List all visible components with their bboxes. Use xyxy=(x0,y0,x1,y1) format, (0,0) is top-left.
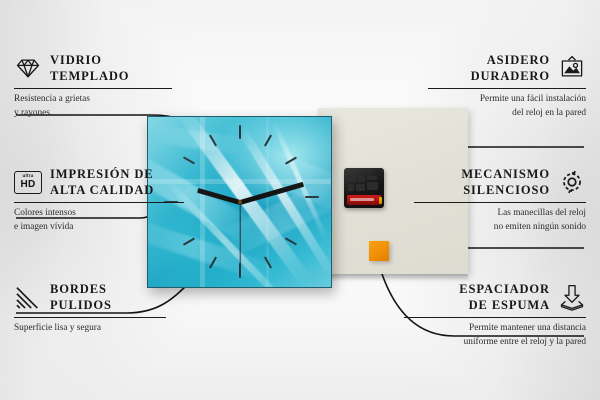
diamond-icon xyxy=(14,54,42,82)
mechanism-detail xyxy=(348,176,380,194)
feature-title: MECANISMO SILENCIOSO xyxy=(461,166,550,198)
arrow-down-stack-icon xyxy=(558,283,586,311)
divider xyxy=(428,88,586,89)
feature-description: Las manecillas del reloj no emiten ningú… xyxy=(414,207,586,233)
feature-title: VIDRIO TEMPLADO xyxy=(50,52,129,84)
feature-description: Colores intensos e imagen vívida xyxy=(14,207,184,233)
ultra-hd-icon: ultra HD xyxy=(14,171,42,194)
feature-asidero-duradero: ASIDERO DURADERO Permite una fácil insta… xyxy=(428,52,586,120)
divider xyxy=(14,317,166,318)
feature-description: Permite una fácil instalación del reloj … xyxy=(428,93,586,119)
clock-second-hand xyxy=(239,202,240,264)
divider xyxy=(14,88,172,89)
feature-espaciador-de-espuma: ESPACIADOR DE ESPUMA Permite mantener un… xyxy=(404,281,586,349)
clock-mechanism xyxy=(344,168,384,208)
feature-title: BORDES PULIDOS xyxy=(50,281,112,313)
feature-mecanismo-silencioso: MECANISMO SILENCIOSO Las manecillas del … xyxy=(414,166,586,234)
mechanism-hanger xyxy=(358,168,371,174)
feature-title: ASIDERO DURADERO xyxy=(471,52,550,84)
clock-center-pin xyxy=(238,200,242,204)
feature-description: Superficie lisa y segura xyxy=(14,322,166,335)
foam-spacer-piece xyxy=(369,241,389,261)
feature-vidrio-templado: VIDRIO TEMPLADO Resistencia a grietas y … xyxy=(14,52,172,120)
clock-tick xyxy=(239,263,241,278)
feature-bordes-pulidos: BORDES PULIDOS Superficie lisa y segura xyxy=(14,281,166,336)
clock-tick xyxy=(239,125,241,139)
divider xyxy=(14,202,184,203)
hanging-picture-icon xyxy=(558,54,586,82)
feature-description: Resistencia a grietas y rayones xyxy=(14,93,172,119)
feature-description: Permite mantener una distancia uniforme … xyxy=(404,322,586,348)
gear-icon xyxy=(558,168,586,196)
feature-title: ESPACIADOR DE ESPUMA xyxy=(459,281,550,313)
divider xyxy=(404,317,586,318)
feature-impresion-alta-calidad: ultra HD IMPRESIÓN DE ALTA CALIDAD Color… xyxy=(14,166,184,234)
divider xyxy=(414,202,586,203)
ultra-hd-icon-main-label: HD xyxy=(20,180,35,190)
feature-title: IMPRESIÓN DE ALTA CALIDAD xyxy=(50,166,154,198)
product-feature-infographic: VIDRIO TEMPLADO Resistencia a grietas y … xyxy=(0,0,600,400)
clock-battery xyxy=(347,195,381,205)
diagonal-lines-icon xyxy=(14,283,42,311)
